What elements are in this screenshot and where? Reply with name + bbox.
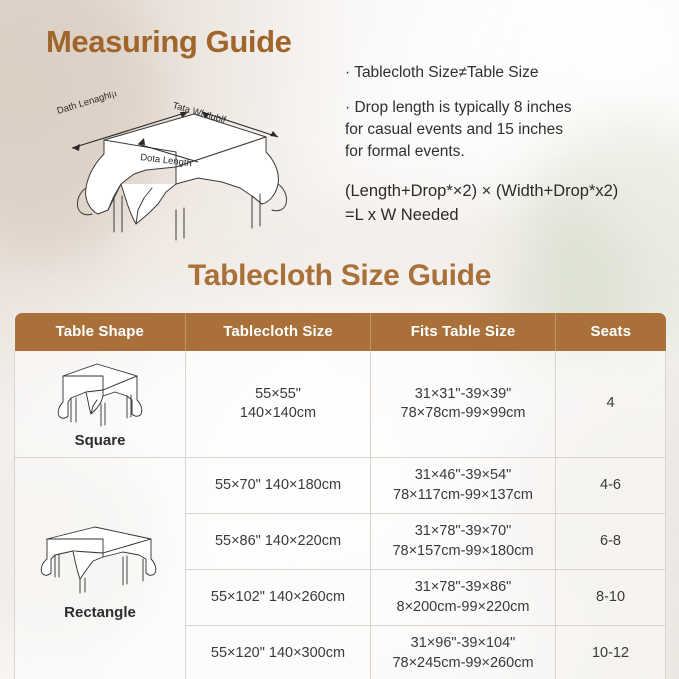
- table-row: Rectangle 55×70" 140×180cm 31×46"-39×54"…: [15, 458, 666, 514]
- shape-cell-square: Square: [15, 351, 186, 458]
- formula-line-0: (Length+Drop*×2) × (Width+Drop*x2): [345, 180, 675, 204]
- table-body: Square 55×55" 140×140cm 31×31"-39×39" 78…: [15, 351, 666, 679]
- rectangle-tablecloth-illustration: [33, 519, 168, 599]
- fits-size-inches: 31×78"-39×70": [375, 522, 551, 541]
- cell-fits-table-size: 31×31"-39×39" 78×78cm-99×99cm: [371, 351, 556, 458]
- cell-fits-table-size: 31×78"-39×70" 78×157cm-99×180cm: [371, 514, 556, 570]
- cell-seats: 6-8: [556, 514, 666, 570]
- formula-line-1: =L x W Needed: [345, 204, 675, 228]
- measuring-diagram: Dath Lenaghl¡l Tata Whtlublf Dota Length: [26, 92, 316, 242]
- cell-tablecloth-size: 55×55" 140×140cm: [186, 351, 371, 458]
- shape-label-rectangle: Rectangle: [19, 603, 181, 623]
- cell-seats: 10-12: [556, 626, 666, 679]
- cloth-size-cm: 140×140cm: [190, 404, 366, 423]
- measuring-guide-title: Measuring Guide: [46, 24, 291, 60]
- cell-fits-table-size: 31×78"-39×86" 8×200cm-99×220cm: [371, 570, 556, 626]
- table-header: Table Shape Tablecloth Size Fits Table S…: [15, 313, 666, 351]
- page-root: Measuring Guide: [0, 0, 679, 679]
- measuring-formula: (Length+Drop*×2) × (Width+Drop*x2) =L x …: [345, 180, 675, 228]
- cell-fits-table-size: 31×96"-39×104" 78×245cm-99×260cm: [371, 626, 556, 679]
- tablecloth-size-table: Table Shape Tablecloth Size Fits Table S…: [14, 313, 666, 679]
- cell-seats: 8-10: [556, 570, 666, 626]
- note-item-1: · Drop length is typically 8 inches for …: [345, 97, 667, 163]
- fits-size-inches: 31×46"-39×54": [375, 466, 551, 485]
- column-header-fits-table-size: Fits Table Size: [371, 313, 556, 351]
- cloth-size-inches: 55×55": [190, 385, 366, 404]
- cell-tablecloth-size: 55×102" 140×260cm: [186, 570, 371, 626]
- fits-size-inches: 31×78"-39×86": [375, 578, 551, 597]
- shape-cell-rectangle: Rectangle: [15, 458, 186, 679]
- fits-size-cm: 78×157cm-99×180cm: [375, 542, 551, 561]
- column-header-seats: Seats: [556, 313, 666, 351]
- cell-fits-table-size: 31×46"-39×54" 78×117cm-99×137cm: [371, 458, 556, 514]
- column-header-tablecloth-size: Tablecloth Size: [186, 313, 371, 351]
- fits-size-inches: 31×96"-39×104": [375, 634, 551, 653]
- square-tablecloth-illustration: [41, 358, 159, 428]
- column-header-table-shape: Table Shape: [15, 313, 186, 351]
- rectangle-table-icon: [19, 517, 181, 601]
- table-header-row: Table Shape Tablecloth Size Fits Table S…: [15, 313, 666, 351]
- fits-size-cm: 78×78cm-99×99cm: [375, 404, 551, 423]
- cell-seats: 4: [556, 351, 666, 458]
- fits-size-cm: 78×245cm-99×260cm: [375, 654, 551, 673]
- cell-tablecloth-size: 55×86" 140×220cm: [186, 514, 371, 570]
- fits-size-cm: 8×200cm-99×220cm: [375, 598, 551, 617]
- note-item-0: · Tablecloth Size≠Table Size: [345, 62, 667, 84]
- fits-size-inches: 31×31"-39×39": [375, 385, 551, 404]
- size-guide-title: Tablecloth Size Guide: [0, 259, 679, 293]
- shape-label-square: Square: [19, 431, 181, 451]
- fits-size-cm: 78×117cm-99×137cm: [375, 486, 551, 505]
- cell-seats: 4-6: [556, 458, 666, 514]
- cell-tablecloth-size: 55×120" 140×300cm: [186, 626, 371, 679]
- square-table-icon: [19, 357, 181, 429]
- table-row: Square 55×55" 140×140cm 31×31"-39×39" 78…: [15, 351, 666, 458]
- diagram-label-left: Dath Lenaghl¡l: [56, 92, 118, 117]
- table-diagram-illustration: Dath Lenaghl¡l Tata Whtlublf Dota Length: [26, 92, 316, 242]
- measuring-notes: · Tablecloth Size≠Table Size · Drop leng…: [345, 62, 667, 176]
- cell-tablecloth-size: 55×70" 140×180cm: [186, 458, 371, 514]
